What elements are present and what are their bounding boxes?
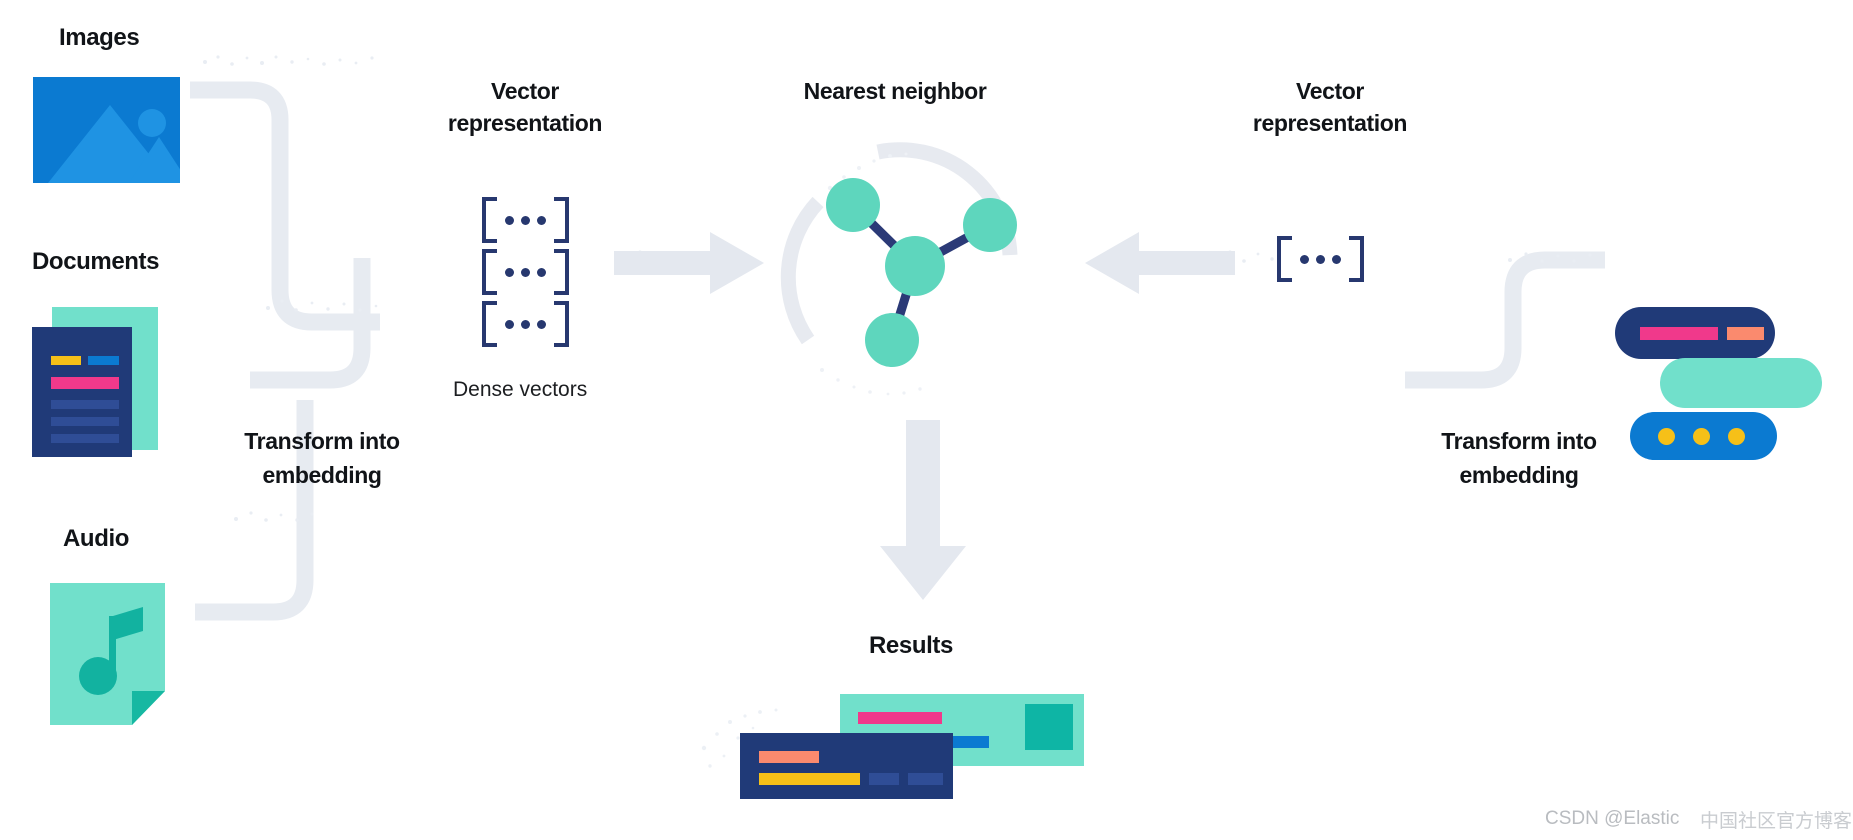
doc-bar-line-2 [51, 417, 119, 426]
results-bar-pink [858, 712, 942, 724]
doc-bar-pink [51, 377, 119, 389]
transform-right-line2: embedding [1414, 462, 1624, 489]
vector-row-2 [479, 249, 571, 295]
watermark-cjk: 中国社区官方博客 [1700, 806, 1852, 833]
results-thumbnail-teal [1025, 704, 1073, 750]
nearest-neighbor-graph [760, 130, 1060, 410]
results-speckles [690, 690, 800, 800]
graph-node-top-left [826, 178, 880, 232]
doc-bar-line-3 [51, 434, 119, 443]
dense-vectors-label: Dense vectors [453, 378, 587, 402]
doc-bar-blue-top [88, 356, 119, 365]
transform-left-line2: embedding [222, 462, 422, 489]
query-dot-2 [1693, 428, 1710, 445]
results-bar-navy-2 [908, 773, 943, 785]
query-bar-pink [1640, 327, 1718, 340]
vector-dots-2 [497, 268, 554, 277]
vector-rep-left-line1: Vector [425, 78, 625, 105]
query-dot-1 [1658, 428, 1675, 445]
doc-bar-line-1 [51, 400, 119, 409]
vector-dots-3 [497, 320, 554, 329]
vector-rep-right-line1: Vector [1220, 78, 1440, 105]
vector-dots-right-1 [1292, 255, 1349, 264]
images-thumbnail [33, 77, 180, 183]
bracket-right-icon [554, 197, 569, 243]
graph-node-center [885, 236, 945, 296]
nearest-neighbor-label: Nearest neighbor [760, 78, 1030, 105]
query-pill-navy [1615, 307, 1775, 359]
query-dot-3 [1728, 428, 1745, 445]
vector-row-right-1 [1274, 236, 1366, 282]
vector-row-1 [479, 197, 571, 243]
graph-node-bottom [865, 313, 919, 367]
watermark-prefix: CSDN @Elastic [1545, 808, 1679, 830]
bracket-left-icon [1277, 236, 1292, 282]
bracket-right-icon [554, 249, 569, 295]
arrow-down-to-results-icon [880, 420, 966, 600]
results-bar-navy-1 [869, 773, 899, 785]
mountain-small-icon [129, 137, 180, 183]
transform-left-line1: Transform into [222, 428, 422, 455]
vector-dots-1 [497, 216, 554, 225]
audio-file-icon [50, 583, 165, 725]
sun-icon [138, 109, 166, 137]
results-label: Results [869, 632, 953, 660]
diagram-canvas: Images Documents Audio Transform into em… [0, 0, 1853, 840]
vector-rep-right-line2: representation [1220, 110, 1440, 137]
bracket-left-icon [482, 301, 497, 347]
query-pill-teal [1660, 358, 1822, 408]
arrow-left-to-graph-icon [1085, 232, 1235, 294]
audio-label: Audio [63, 525, 129, 553]
arrow-right-to-graph-icon [614, 232, 764, 294]
bracket-right-icon [1349, 236, 1364, 282]
query-bar-salmon [1727, 327, 1764, 340]
doc-bar-yellow [51, 356, 81, 365]
bracket-right-icon [554, 301, 569, 347]
query-pill-blue [1630, 412, 1777, 460]
transform-right-line1: Transform into [1414, 428, 1624, 455]
bracket-left-icon [482, 249, 497, 295]
documents-label: Documents [32, 248, 159, 276]
vector-rep-left-line2: representation [425, 110, 625, 137]
bracket-left-icon [482, 197, 497, 243]
vector-row-3 [479, 301, 571, 347]
document-front-page [32, 327, 132, 457]
graph-node-right [963, 198, 1017, 252]
images-label: Images [59, 24, 139, 52]
